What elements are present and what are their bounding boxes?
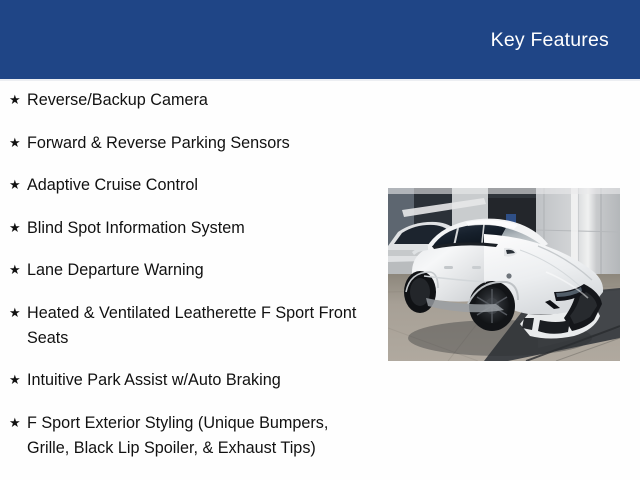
- feature-label: F Sport Exterior Styling (Unique Bumpers…: [27, 411, 372, 461]
- star-bullet-icon: ★: [9, 131, 27, 156]
- feature-label: Heated & Ventilated Leatherette F Sport …: [27, 301, 372, 351]
- slide-root: Key Features ★ Reverse/Backup Camera ★ F…: [0, 0, 640, 480]
- star-bullet-icon: ★: [9, 88, 27, 113]
- star-bullet-icon: ★: [9, 301, 27, 326]
- list-item: ★ Intuitive Park Assist w/Auto Braking: [0, 368, 372, 393]
- feature-label: Forward & Reverse Parking Sensors: [27, 131, 372, 156]
- list-item: ★ Adaptive Cruise Control: [0, 173, 372, 198]
- star-bullet-icon: ★: [9, 173, 27, 198]
- list-item: ★ Forward & Reverse Parking Sensors: [0, 131, 372, 156]
- star-bullet-icon: ★: [9, 216, 27, 241]
- vehicle-photo: [388, 188, 620, 361]
- list-item: ★ Heated & Ventilated Leatherette F Spor…: [0, 301, 372, 351]
- feature-label: Blind Spot Information System: [27, 216, 372, 241]
- key-features-list: ★ Reverse/Backup Camera ★ Forward & Reve…: [0, 88, 372, 461]
- header-divider: [0, 79, 640, 81]
- feature-label: Intuitive Park Assist w/Auto Braking: [27, 368, 372, 393]
- header-band: Key Features: [0, 0, 640, 79]
- page-title: Key Features: [491, 29, 609, 52]
- feature-label: Lane Departure Warning: [27, 258, 372, 283]
- star-bullet-icon: ★: [9, 411, 27, 436]
- list-item: ★ Blind Spot Information System: [0, 216, 372, 241]
- star-bullet-icon: ★: [9, 368, 27, 393]
- star-bullet-icon: ★: [9, 258, 27, 283]
- list-item: ★ Reverse/Backup Camera: [0, 88, 372, 113]
- list-item: ★ Lane Departure Warning: [0, 258, 372, 283]
- list-item: ★ F Sport Exterior Styling (Unique Bumpe…: [0, 411, 372, 461]
- feature-label: Reverse/Backup Camera: [27, 88, 372, 113]
- feature-label: Adaptive Cruise Control: [27, 173, 372, 198]
